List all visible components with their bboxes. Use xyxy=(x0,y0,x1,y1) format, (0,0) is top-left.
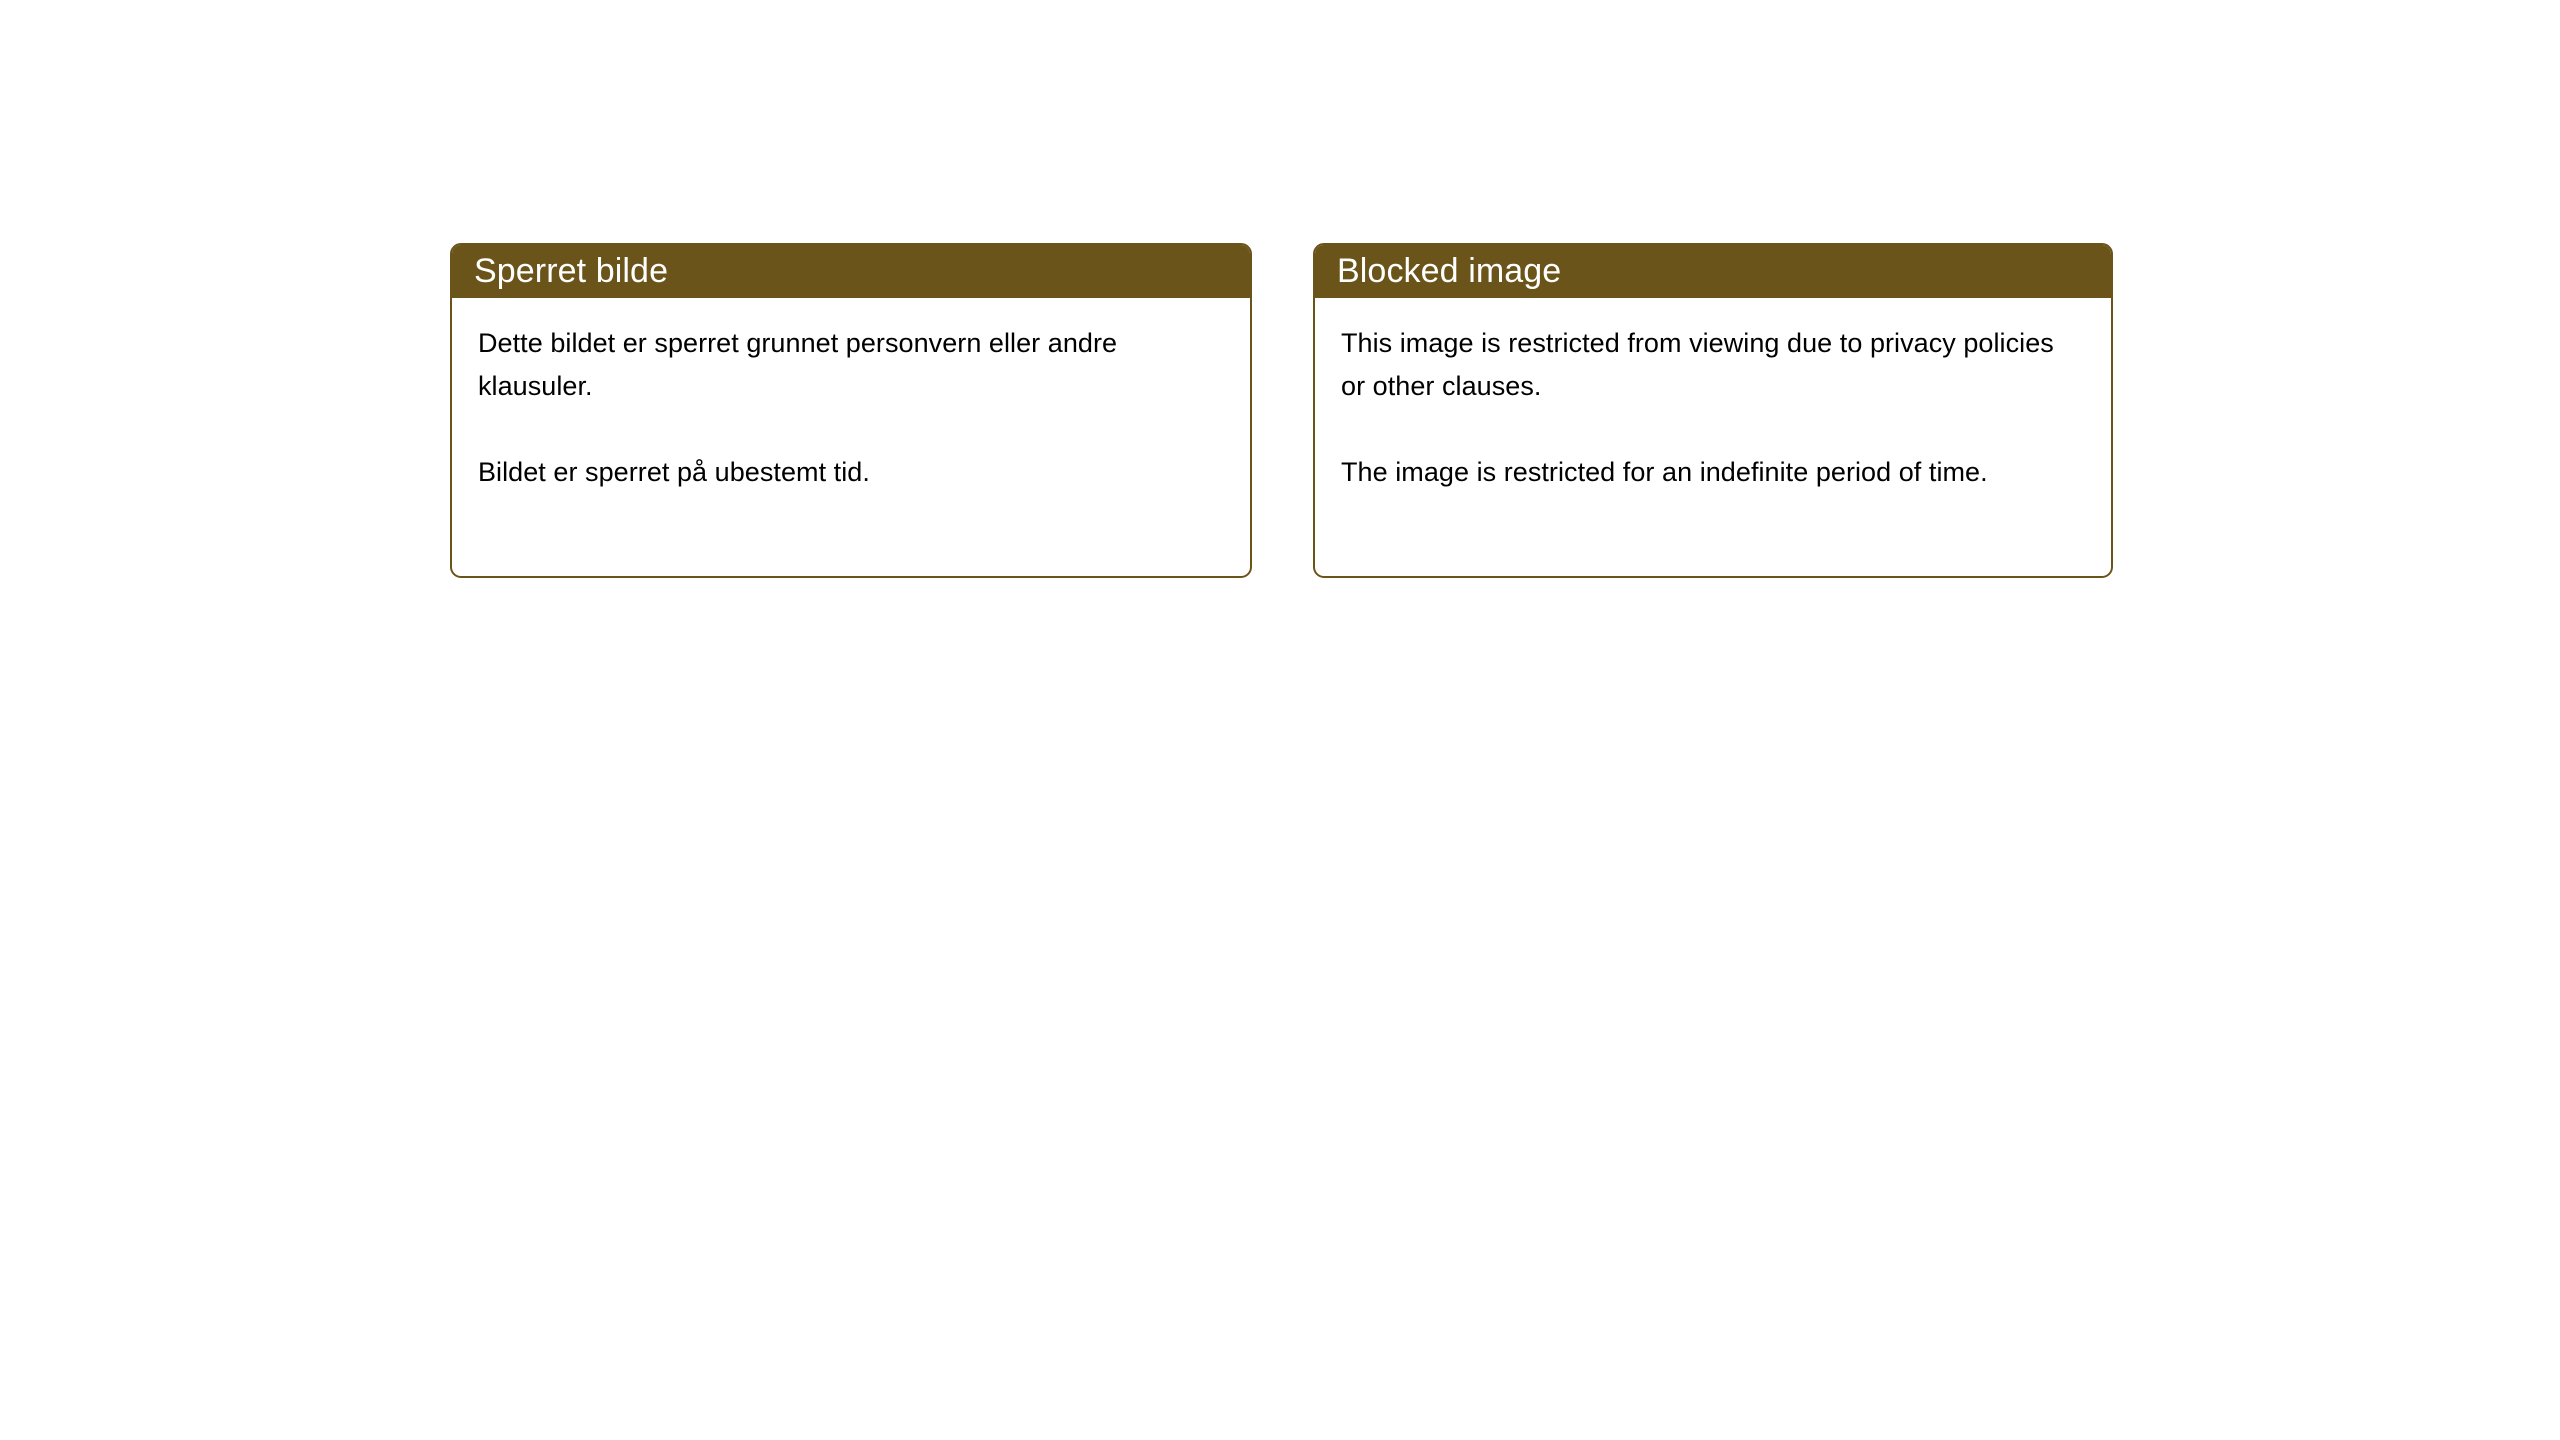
card-body-no: Dette bildet er sperret grunnet personve… xyxy=(452,298,1250,576)
card-body-en: This image is restricted from viewing du… xyxy=(1315,298,2111,576)
card-header-en: Blocked image xyxy=(1313,243,2113,298)
card-title-en: Blocked image xyxy=(1337,254,1561,288)
blocked-image-card-no: Sperret bilde Dette bildet er sperret gr… xyxy=(450,243,1252,578)
blocked-image-card-en: Blocked image This image is restricted f… xyxy=(1313,243,2113,578)
card-header-no: Sperret bilde xyxy=(450,243,1252,298)
blocked-image-notice-group: Sperret bilde Dette bildet er sperret gr… xyxy=(450,243,2113,578)
page-background: Sperret bilde Dette bildet er sperret gr… xyxy=(0,0,2560,1440)
card-paragraph-en-1: This image is restricted from viewing du… xyxy=(1341,322,2085,408)
card-title-no: Sperret bilde xyxy=(474,254,668,288)
card-paragraph-no-2: Bildet er sperret på ubestemt tid. xyxy=(478,451,1224,494)
card-paragraph-no-1: Dette bildet er sperret grunnet personve… xyxy=(478,322,1224,408)
card-paragraph-en-2: The image is restricted for an indefinit… xyxy=(1341,451,2085,494)
